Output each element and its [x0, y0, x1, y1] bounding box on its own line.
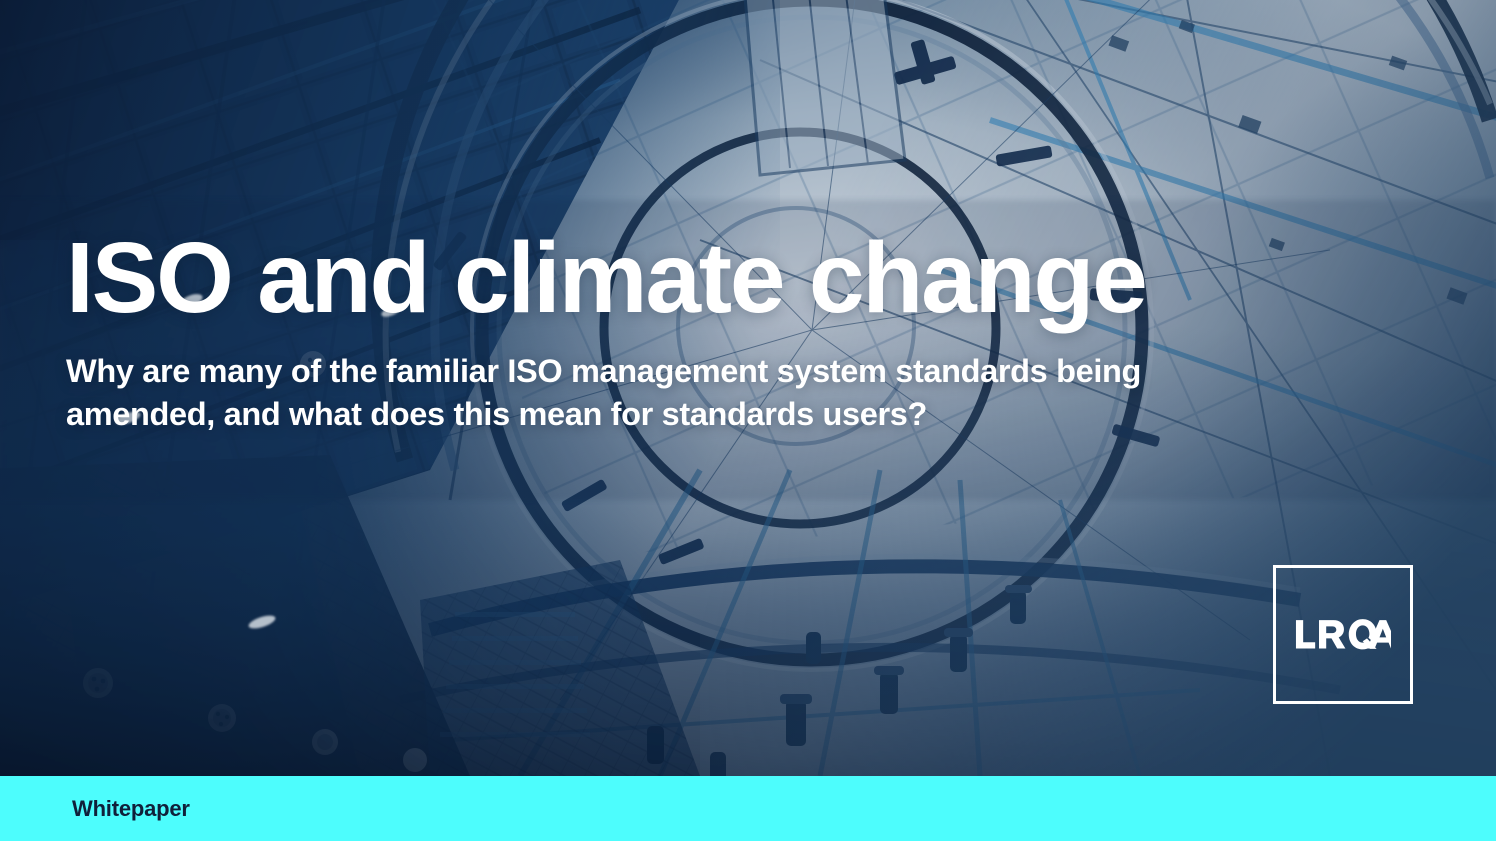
lrqa-wordmark-icon	[1295, 617, 1391, 653]
footer-label-whitepaper: Whitepaper	[72, 796, 190, 822]
page-title: ISO and climate change	[66, 228, 1386, 328]
whitepaper-cover-page: ISO and climate change Why are many of t…	[0, 0, 1496, 841]
page-subtitle: Why are many of the familiar ISO managem…	[66, 328, 1281, 436]
lrqa-logo	[1273, 565, 1413, 704]
hero-copy: ISO and climate change Why are many of t…	[66, 228, 1386, 436]
footer-bar: Whitepaper	[0, 776, 1496, 841]
